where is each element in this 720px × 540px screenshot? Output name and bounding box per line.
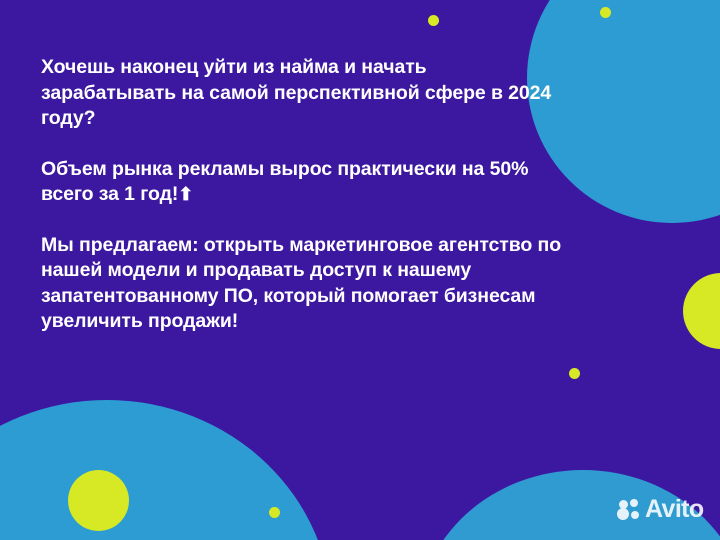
paragraph-offer: Мы предлагаем: открыть маркетинговое аге…	[41, 233, 561, 335]
promo-poster: Хочешь наконец уйти из найма и начать за…	[0, 0, 720, 540]
arrow-up-icon: ⬆	[178, 184, 193, 204]
avito-wordmark: Avito	[645, 497, 704, 522]
avito-dots-logo-icon	[617, 498, 641, 522]
decor-circle-right-yellow	[683, 273, 720, 349]
paragraph-stat-text: Объем рынка рекламы вырос практически на…	[41, 158, 528, 206]
avito-watermark: Avito	[617, 497, 704, 522]
paragraph-hook: Хочешь наконец уйти из найма и начать за…	[41, 55, 561, 132]
decor-dot-d	[269, 507, 280, 518]
paragraph-stat: Объем рынка рекламы вырос практически на…	[41, 157, 561, 208]
poster-copy: Хочешь наконец уйти из найма и начать за…	[41, 55, 561, 335]
decor-dot-b	[600, 7, 611, 18]
decor-dot-c	[569, 368, 580, 379]
decor-dot-a	[428, 15, 439, 26]
decor-dot-yellow-large	[68, 470, 129, 531]
decor-circle-bottom-left	[0, 400, 332, 540]
